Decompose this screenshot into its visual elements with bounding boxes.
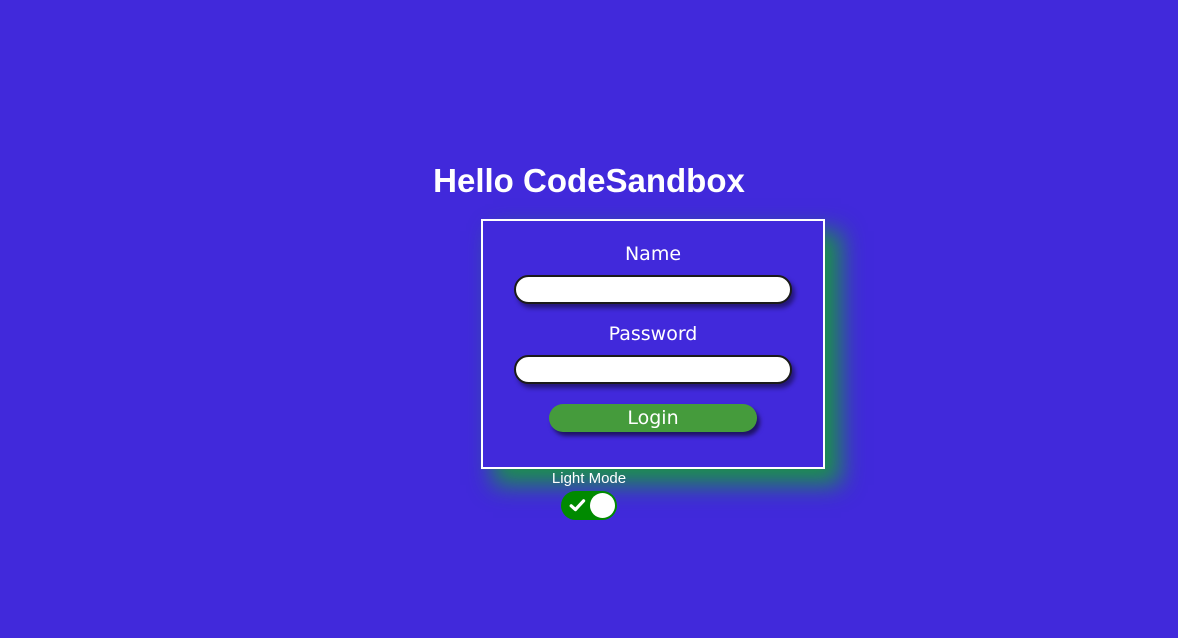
light-mode-label: Light Mode [552,470,626,488]
theme-toggle-area: Light Mode [0,470,1178,520]
page-title: Hello CodeSandbox [0,161,1178,201]
login-button[interactable]: Login [549,404,757,432]
check-icon [569,497,586,514]
name-input[interactable] [514,275,792,304]
password-label: Password [609,323,698,346]
light-mode-toggle[interactable] [561,491,617,520]
login-page: Hello CodeSandbox Name Password Login Li… [0,0,1178,638]
password-input[interactable] [514,355,792,384]
toggle-knob[interactable] [590,493,615,518]
name-label: Name [625,243,681,266]
login-card: Name Password Login [481,219,825,469]
